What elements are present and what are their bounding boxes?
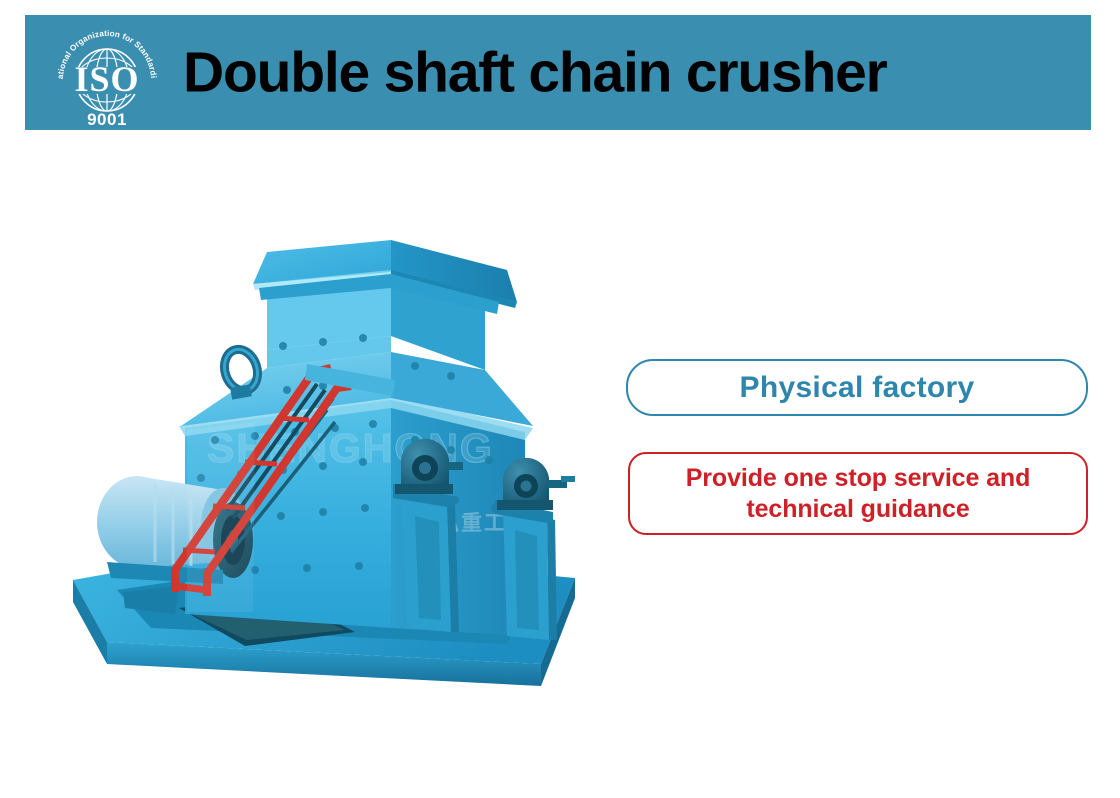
product-image-crusher: SHENGHONG 晟弘重工 [55,240,615,700]
iso-standard-number: 9001 [87,110,127,129]
callout-service-text: Provide one stop service and technical g… [686,463,1031,524]
callout-service-line2: technical guidance [746,495,969,523]
callout-service[interactable]: Provide one stop service and technical g… [628,452,1088,535]
callout-physical-factory[interactable]: Physical factory [626,359,1088,416]
callout-physical-factory-label: Physical factory [740,373,975,403]
page-title: Double shaft chain crusher [183,44,887,101]
header-band: International Organization for Standardi… [25,15,1091,130]
callout-service-line1: Provide one stop service and [686,464,1031,492]
iso-9001-logo: International Organization for Standardi… [47,18,167,130]
iso-acronym: ISO [74,59,139,99]
